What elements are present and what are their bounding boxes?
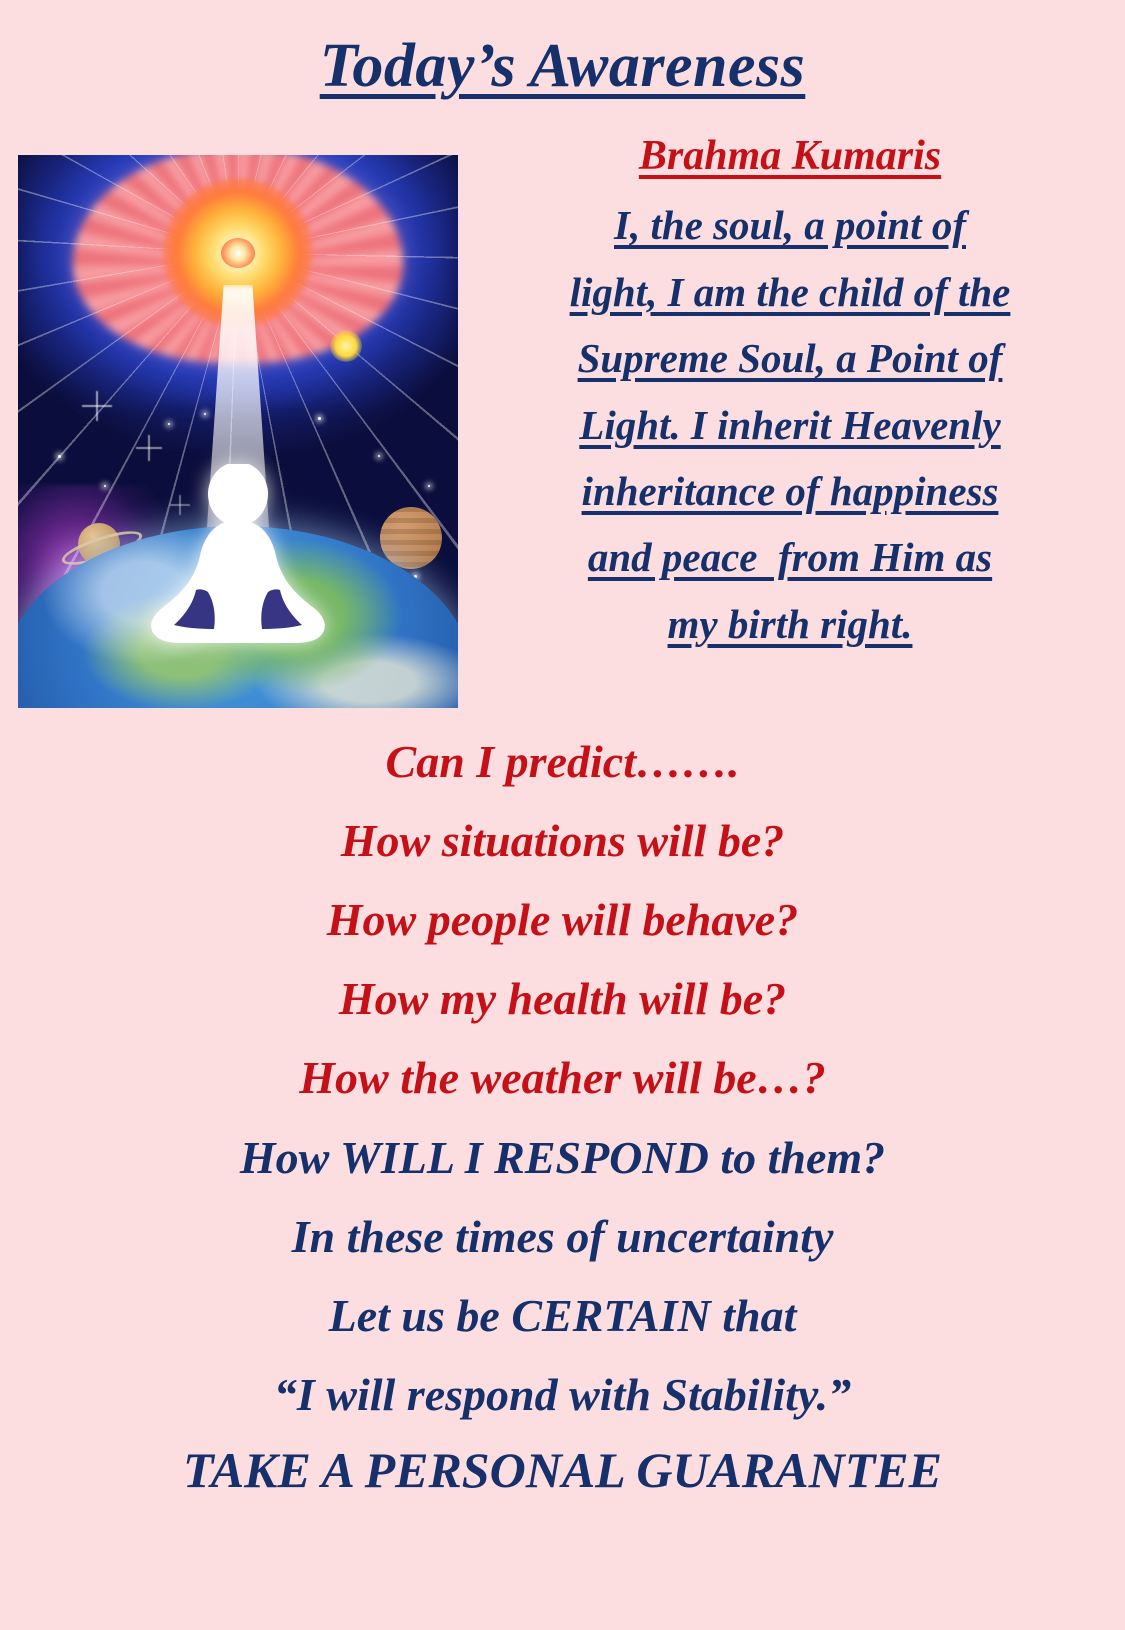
affirmation-line: How WILL I RESPOND to them?: [0, 1118, 1125, 1197]
quote-line: Supreme Soul, a Point of: [470, 325, 1110, 391]
star-dot: [58, 455, 61, 458]
soul-meditating-on-earth-illustration: [18, 155, 458, 708]
quote-line: and peace from Him as: [470, 524, 1110, 590]
quote-line: Light. I inherit Heavenly: [470, 392, 1110, 458]
point-of-light-icon: [221, 238, 255, 268]
affirmation-line: Let us be CERTAIN that: [0, 1276, 1125, 1355]
closing-line: TAKE A PERSONAL GUARANTEE: [0, 1434, 1125, 1507]
star-dot: [104, 485, 106, 487]
star-dot: [168, 423, 170, 425]
meditating-soul-figure: [122, 464, 354, 672]
quote-source: Brahma Kumaris: [470, 132, 1110, 180]
quote-line: I, the soul, a point of: [470, 192, 1110, 258]
question-line: Can I predict…….: [0, 722, 1125, 801]
question-line: How the weather will be…?: [0, 1038, 1125, 1117]
page-title-row: Today’s Awareness: [0, 34, 1125, 99]
question-line: How my health will be?: [0, 959, 1125, 1038]
star-dot: [378, 455, 380, 457]
question-line: How situations will be?: [0, 801, 1125, 880]
sparkle-star-icon: [136, 435, 162, 461]
quote-block: Brahma Kumaris I, the soul, a point of l…: [470, 132, 1110, 657]
awareness-poster: Today’s Awareness: [0, 0, 1125, 1630]
quote-line: my birth right.: [470, 591, 1110, 657]
quote-line: inheritance of happiness: [470, 458, 1110, 524]
quote-line: light, I am the child of the: [470, 259, 1110, 325]
message-block: Can I predict……. How situations will be?…: [0, 722, 1125, 1506]
jupiter-planet: [380, 507, 442, 569]
star-dot: [318, 417, 321, 420]
affirmation-line: “I will respond with Stability.”: [0, 1355, 1125, 1434]
star-dot: [204, 413, 206, 415]
affirmation-line: In these times of uncertainty: [0, 1197, 1125, 1276]
question-line: How people will behave?: [0, 880, 1125, 959]
page-title: Today’s Awareness: [320, 34, 806, 99]
star-dot: [428, 485, 430, 487]
sparkle-star-icon: [82, 391, 112, 421]
yellow-star: [330, 330, 362, 362]
